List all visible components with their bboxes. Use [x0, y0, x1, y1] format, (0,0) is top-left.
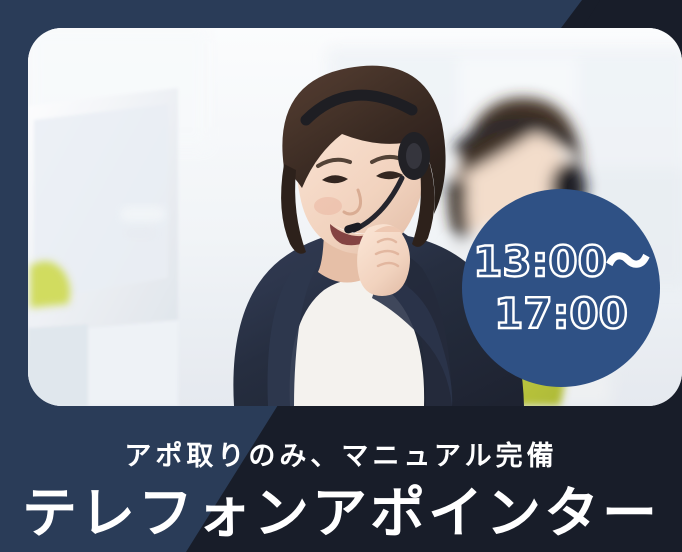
- work-hours-badge: 13:00〜 17:00: [462, 189, 660, 387]
- work-hours-line-2: 17:00: [494, 289, 628, 339]
- recruitment-banner: 13:00〜 17:00 アポ取りのみ、マニュアル完備 テレフォンアポインター: [0, 0, 682, 552]
- work-hours-line-1: 13:00〜: [473, 237, 649, 287]
